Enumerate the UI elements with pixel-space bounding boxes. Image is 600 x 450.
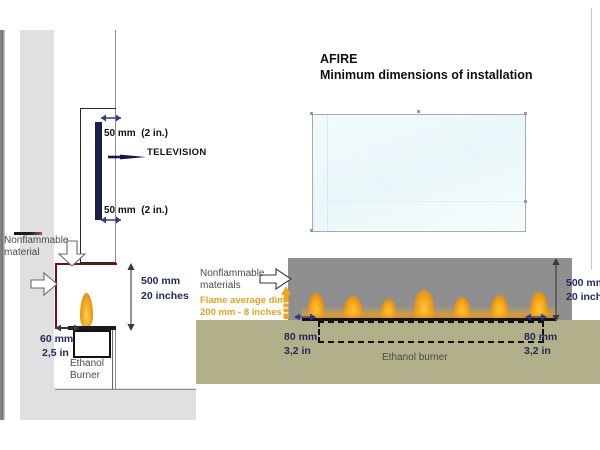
slide-divider-line <box>591 8 592 270</box>
panel-height-dimension-arrow <box>549 258 563 322</box>
flame-average-label-line2: 200 mm - 8 inches <box>200 308 282 319</box>
tv-gap-bottom-label: 50 mm (2 in.) <box>104 205 168 217</box>
left-section-diagram: 50 mm (2 in.) 50 mm (2 in.) TELEVISION N… <box>0 0 196 450</box>
left-clearance-arrow <box>292 311 318 323</box>
floor-gray-band <box>20 388 196 420</box>
ethanol-burner-outline <box>318 321 544 343</box>
screen-seam-vertical <box>327 115 328 231</box>
ethanol-burner-box <box>73 330 111 358</box>
flame-average-label-line1: Flame average dim <box>200 296 286 307</box>
hearth-edge-line <box>112 330 113 389</box>
wall-gray-band <box>20 30 54 420</box>
screen-handle-tl <box>310 112 313 115</box>
right-clearance-arrow <box>523 311 549 323</box>
wall-white-gap <box>5 30 20 420</box>
tv-recess-top <box>80 108 116 109</box>
screen-seam-horizontal <box>313 201 525 202</box>
height-in-label: 20 inches <box>141 290 189 302</box>
floor-khaki-left <box>196 320 288 384</box>
height-dimension-arrow <box>124 262 138 332</box>
depth-mm-label: 60 mm <box>40 333 73 345</box>
nonflammable-label-line2: material <box>4 247 40 259</box>
screen-handle-tr <box>524 112 527 115</box>
left-clearance-in-label: 3,2 in <box>284 345 311 357</box>
nonflammable-label-line1: Nonflammable <box>200 268 264 280</box>
nonflammable-side-block-arrow <box>30 272 60 296</box>
diagram-canvas: 50 mm (2 in.) 50 mm (2 in.) TELEVISION N… <box>0 0 600 450</box>
nonflammable-label-line1: Nonflammable <box>4 235 68 247</box>
right-clearance-mm-label: 80 mm <box>524 331 557 343</box>
screen-handle-br <box>524 200 527 203</box>
screen-handle-tm <box>417 110 420 113</box>
burner-label-line2: Burner <box>70 370 100 382</box>
television-pointer-arrow <box>106 150 148 164</box>
right-elevation-diagram: AFIRE Minimum dimensions of installation <box>196 0 600 450</box>
tv-gap-top-label: 50 mm (2 in.) <box>104 128 168 140</box>
height-mm-label: 500 mm <box>141 275 180 287</box>
brand-title: AFIRE <box>320 52 358 66</box>
depth-in-label: 2,5 in <box>42 347 69 359</box>
left-clearance-mm-label: 80 mm <box>284 331 317 343</box>
burner-label: Ethanol burner <box>382 352 448 364</box>
burner-label-line1: Ethanol <box>70 358 104 370</box>
television-bar <box>95 122 102 220</box>
right-clearance-in-label: 3,2 in <box>524 345 551 357</box>
screen-handle-bl <box>310 229 313 232</box>
hearth-front-line <box>115 330 116 390</box>
tv-top-gap-arrow <box>98 112 124 124</box>
wall-face-line-upper <box>115 30 116 263</box>
floor-line <box>55 389 196 390</box>
nonflammable-label-line2: materials <box>200 280 241 292</box>
television-screen <box>312 114 526 232</box>
panel-height-mm-label: 500 mm <box>566 277 600 289</box>
panel-height-in-label: 20 inches <box>566 291 600 303</box>
subtitle: Minimum dimensions of installation <box>320 68 533 82</box>
